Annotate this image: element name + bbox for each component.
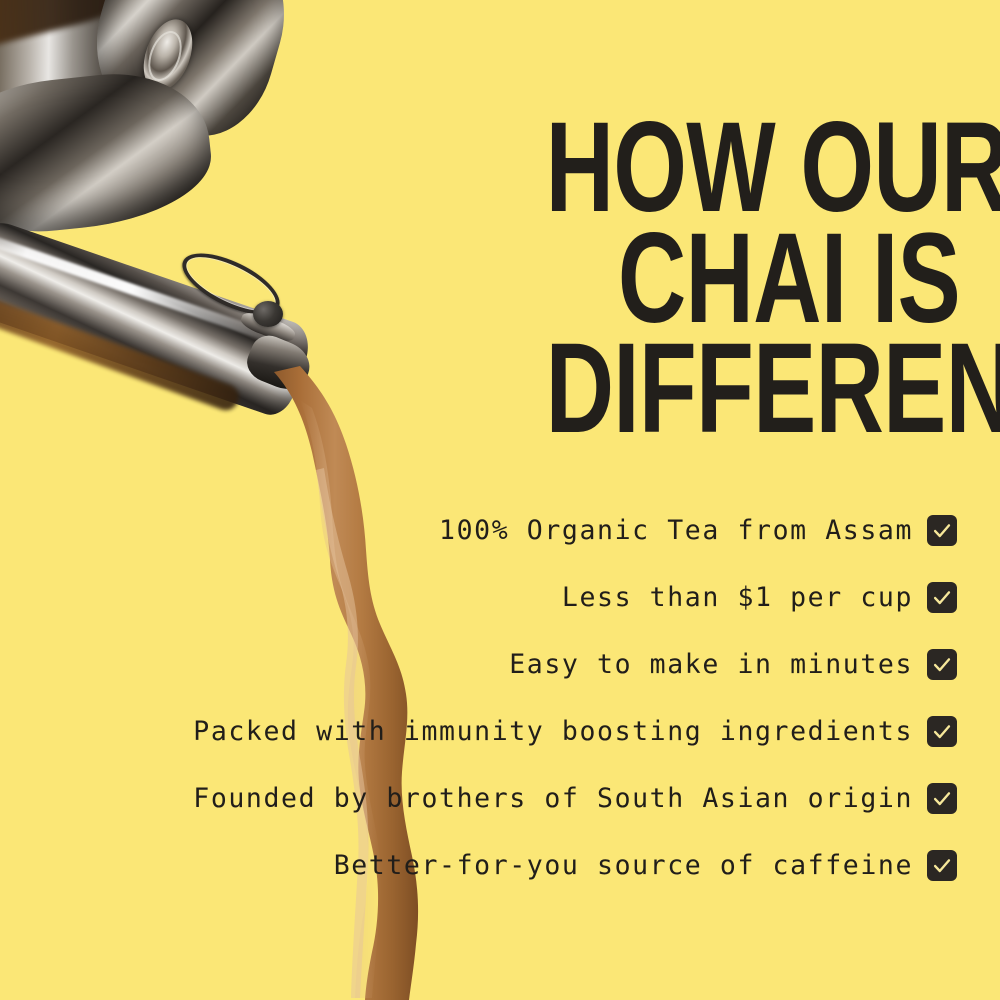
page-title: HOW OUR CHAI IS DIFFERENT	[400, 113, 960, 443]
checkbox-checked-icon[interactable]	[927, 850, 957, 881]
list-item: 100% Organic Tea from Assam	[57, 497, 957, 564]
feature-checklist: 100% Organic Tea from Assam Less than $1…	[57, 497, 957, 899]
checklist-item-label: Packed with immunity boosting ingredient…	[193, 716, 913, 747]
checkbox-checked-icon[interactable]	[927, 515, 957, 546]
list-item: Less than $1 per cup	[57, 564, 957, 631]
list-item: Better-for-you source of caffeine	[57, 832, 957, 899]
checklist-item-label: Founded by brothers of South Asian origi…	[193, 783, 913, 814]
checklist-item-label: Easy to make in minutes	[509, 649, 913, 680]
checkbox-checked-icon[interactable]	[927, 716, 957, 747]
checkbox-checked-icon[interactable]	[927, 783, 957, 814]
list-item: Founded by brothers of South Asian origi…	[57, 765, 957, 832]
headline-line-3: DIFFERENT	[546, 334, 960, 444]
checklist-item-label: Better-for-you source of caffeine	[334, 850, 913, 881]
checklist-item-label: Less than $1 per cup	[562, 582, 913, 613]
list-item: Easy to make in minutes	[57, 631, 957, 698]
poster-canvas: HOW OUR CHAI IS DIFFERENT 100% Organic T…	[0, 0, 1000, 1000]
checkbox-checked-icon[interactable]	[927, 582, 957, 613]
list-item: Packed with immunity boosting ingredient…	[57, 698, 957, 765]
checkbox-checked-icon[interactable]	[927, 649, 957, 680]
checklist-item-label: 100% Organic Tea from Assam	[439, 515, 913, 546]
